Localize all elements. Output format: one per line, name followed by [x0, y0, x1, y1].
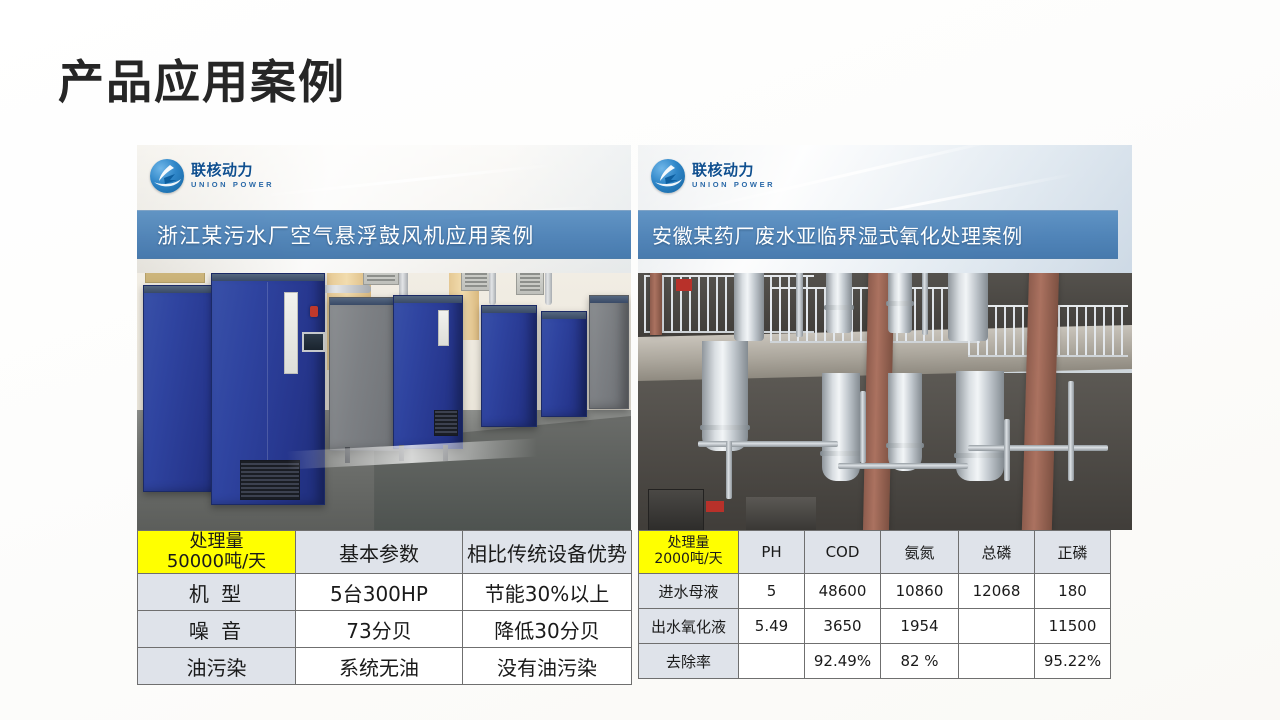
row-value — [959, 609, 1035, 644]
blower-unit — [481, 305, 537, 427]
pipe — [860, 391, 866, 463]
pipe — [726, 441, 732, 499]
hmi-screen — [302, 332, 325, 352]
column-header: PH — [739, 531, 805, 574]
table-row: 油污染 系统无油 没有油污染 — [138, 648, 632, 685]
brand-name-en: UNION POWER — [191, 181, 274, 189]
case-photo-left: 联核动力 UNION POWER 浙江某污水厂空气悬浮鼓风机应用案例 — [137, 145, 631, 530]
table-header-row: 处理量 50000吨/天 基本参数 相比传统设备优势 — [138, 531, 632, 574]
vessel-band — [700, 425, 750, 430]
brand-logo: 联核动力 UNION POWER — [651, 159, 775, 193]
case-banner-right: 安徽某药厂废水亚临界湿式氧化处理案例 — [638, 210, 1118, 259]
process-vessel — [702, 341, 748, 451]
brand-logo-text: 联核动力 UNION POWER — [191, 163, 274, 189]
process-vessel — [888, 265, 912, 333]
process-vessel — [888, 373, 922, 471]
row-value: 10860 — [881, 574, 959, 609]
unit-top — [590, 296, 628, 303]
row-advantage: 降低30分贝 — [463, 611, 632, 648]
row-value: 5 — [739, 574, 805, 609]
brand-logo: 联核动力 UNION POWER — [150, 159, 274, 193]
case-card-right: 联核动力 UNION POWER 安徽某药厂废水亚临界湿式氧化处理案例 — [638, 145, 1132, 530]
row-value: 3650 — [805, 609, 881, 644]
pipe — [1004, 419, 1010, 481]
spec-label — [438, 310, 449, 346]
pipe — [968, 445, 1108, 451]
brand-name-cn: 联核动力 — [191, 163, 274, 178]
safety-sign — [706, 501, 724, 512]
table-corner-cell: 处理量 50000吨/天 — [138, 531, 296, 574]
vessel-band — [886, 301, 914, 306]
table-row: 去除率 92.49% 82 % 95.22% — [639, 644, 1111, 679]
case-table-left: 处理量 50000吨/天 基本参数 相比传统设备优势 机 型 5台300HP 节… — [137, 530, 632, 685]
case-banner-right-title: 安徽某药厂废水亚临界湿式氧化处理案例 — [638, 220, 1023, 249]
brand-name-en: UNION POWER — [692, 181, 775, 189]
corner-line-1: 处理量 — [138, 532, 295, 552]
column-header: COD — [805, 531, 881, 574]
pipe — [698, 441, 838, 447]
row-value: 11500 — [1035, 609, 1111, 644]
row-value — [739, 644, 805, 679]
column-header: 氨氮 — [881, 531, 959, 574]
unit-top — [542, 312, 586, 319]
row-label: 噪 音 — [138, 611, 296, 648]
row-advantage: 没有油污染 — [463, 648, 632, 685]
row-value: 12068 — [959, 574, 1035, 609]
row-value — [959, 644, 1035, 679]
light-streak — [258, 163, 557, 197]
row-value: 5.49 — [739, 609, 805, 644]
table-row: 出水氧化液 5.49 3650 1954 11500 — [639, 609, 1111, 644]
corner-line-2: 2000吨/天 — [639, 552, 738, 568]
row-value: 82 % — [881, 644, 959, 679]
row-value: 5台300HP — [296, 574, 463, 611]
union-power-swoosh-icon — [651, 159, 685, 193]
vessel-band — [824, 305, 854, 310]
row-value: 73分贝 — [296, 611, 463, 648]
ground-equipment — [746, 497, 816, 530]
table-row: 机 型 5台300HP 节能30%以上 — [138, 574, 632, 611]
air-vent — [434, 410, 458, 436]
blower-unit — [211, 273, 325, 505]
slide-canvas: 产品应用案例 — [0, 0, 1280, 720]
ground-equipment — [648, 489, 704, 530]
table-corner-cell: 处理量 2000吨/天 — [639, 531, 739, 574]
vessel-band — [820, 451, 862, 456]
column-header: 相比传统设备优势 — [463, 531, 632, 574]
corner-line-2: 50000吨/天 — [138, 552, 295, 572]
blower-unit — [541, 311, 587, 417]
brand-name-cn: 联核动力 — [692, 163, 775, 178]
unit-top — [482, 306, 536, 313]
row-value: 180 — [1035, 574, 1111, 609]
row-value: 系统无油 — [296, 648, 463, 685]
case-table-right: 处理量 2000吨/天 PH COD 氨氮 总磷 正磷 进水母液 5 48600… — [638, 530, 1111, 679]
unit-top — [394, 296, 462, 303]
case-banner-left: 浙江某污水厂空气悬浮鼓风机应用案例 — [137, 210, 631, 259]
row-value: 1954 — [881, 609, 959, 644]
case-card-left: 联核动力 UNION POWER 浙江某污水厂空气悬浮鼓风机应用案例 — [137, 145, 631, 530]
row-value: 48600 — [805, 574, 881, 609]
row-label: 机 型 — [138, 574, 296, 611]
brand-logo-text: 联核动力 UNION POWER — [692, 163, 775, 189]
row-label: 出水氧化液 — [639, 609, 739, 644]
row-label: 去除率 — [639, 644, 739, 679]
blower-unit — [393, 295, 463, 449]
vessel-band — [954, 453, 1006, 458]
column-header: 基本参数 — [296, 531, 463, 574]
table-row: 噪 音 73分贝 降低30分贝 — [138, 611, 632, 648]
row-label: 进水母液 — [639, 574, 739, 609]
corner-line-1: 处理量 — [639, 536, 738, 552]
case-photo-right: 联核动力 UNION POWER 安徽某药厂废水亚临界湿式氧化处理案例 — [638, 145, 1132, 530]
indicator-light — [310, 306, 318, 317]
union-power-swoosh-icon — [150, 159, 184, 193]
pipe — [838, 463, 968, 469]
safety-sign — [676, 279, 692, 291]
case-banner-left-title: 浙江某污水厂空气悬浮鼓风机应用案例 — [137, 220, 534, 250]
table-row: 进水母液 5 48600 10860 12068 180 — [639, 574, 1111, 609]
row-value: 95.22% — [1035, 644, 1111, 679]
vessel-band — [886, 443, 924, 448]
row-advantage: 节能30%以上 — [463, 574, 632, 611]
row-value: 92.49% — [805, 644, 881, 679]
blower-unit — [589, 295, 629, 409]
column-header: 正磷 — [1035, 531, 1111, 574]
pipe — [1068, 381, 1074, 481]
table-header-row: 处理量 2000吨/天 PH COD 氨氮 总磷 正磷 — [639, 531, 1111, 574]
row-label: 油污染 — [138, 648, 296, 685]
column-header: 总磷 — [959, 531, 1035, 574]
page-title: 产品应用案例 — [58, 56, 346, 109]
spec-label — [284, 292, 298, 374]
unit-top — [212, 274, 324, 281]
